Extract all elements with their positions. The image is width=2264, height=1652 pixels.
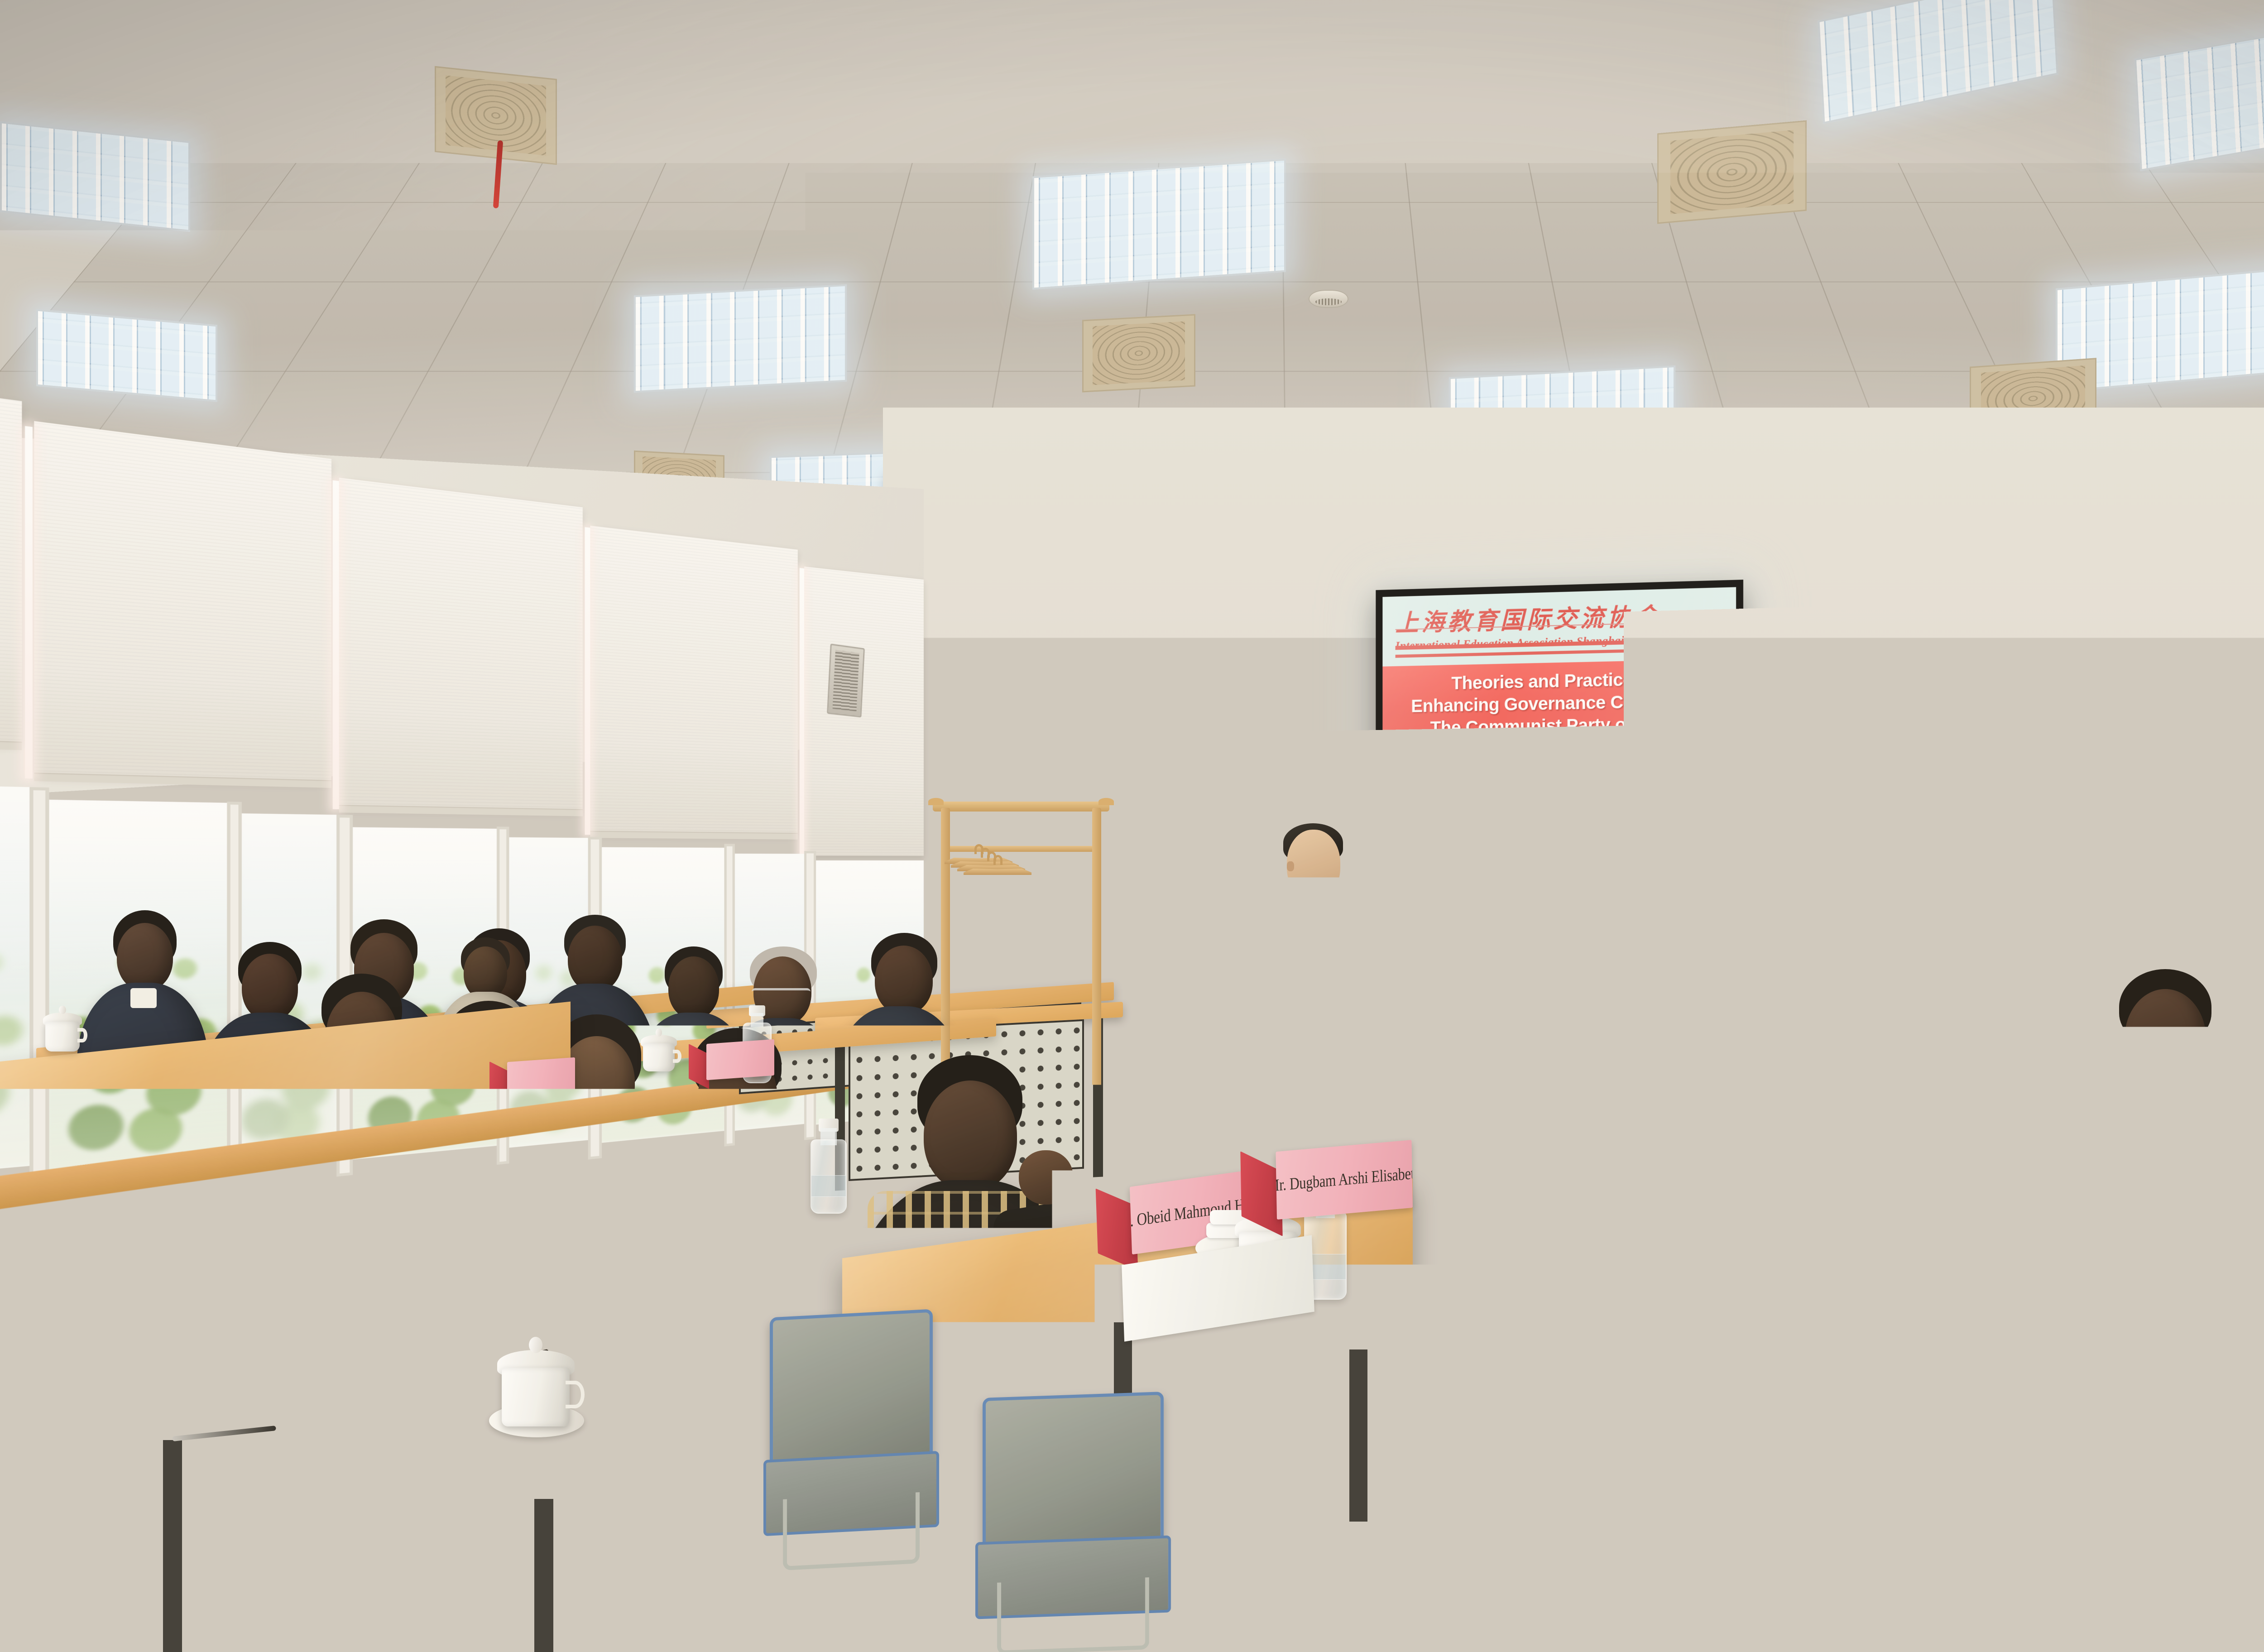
water-bottle <box>435 1309 482 1431</box>
slide-affiliation-line-1: President <box>1440 818 1676 840</box>
laptop-screen <box>1988 1265 2075 1416</box>
hvac-diffuser <box>435 66 557 165</box>
head <box>568 926 622 992</box>
slide-body: Dr. Jiang Haishan President Internationa… <box>1382 743 1736 900</box>
rolled-towel <box>2156 1194 2222 1208</box>
hvac-diffuser <box>1082 314 1195 392</box>
roller-blind <box>339 478 583 811</box>
towel-plate <box>2146 1205 2232 1235</box>
stacking-chair[interactable] <box>770 1309 933 1571</box>
presenter-hand-right <box>1322 999 1359 1032</box>
ceiling-light-troffer <box>1032 158 1286 289</box>
fire-sprinkler-icon <box>584 448 596 467</box>
eyeglasses-icon <box>752 988 811 1000</box>
podium-microphone <box>1442 924 1470 1037</box>
coat-rack-top-bar <box>933 802 1109 812</box>
tea-mug <box>1905 1336 1969 1413</box>
placard-text: Mr. Dugbam Arshi Elisabeth <box>1276 1163 1413 1196</box>
shirt-collar <box>130 988 157 1008</box>
placard-text <box>540 1072 542 1083</box>
presenter-head <box>1287 830 1340 898</box>
blind-light-gap <box>333 480 339 809</box>
rolled-towel <box>2160 1181 2223 1195</box>
name-placard: Mr. Dugbam Arshi Elisabeth <box>1276 1140 1413 1220</box>
ceiling-light-troffer <box>0 121 190 232</box>
tea-mug <box>643 1032 675 1071</box>
presentation-slide: 上海教育国际交流协会 International Education Assoc… <box>1382 587 1736 900</box>
tea-mug <box>45 1010 80 1052</box>
tea-mug <box>96 1196 144 1254</box>
hand <box>1019 1150 1073 1205</box>
water-bottle <box>811 1119 847 1214</box>
tea-mug <box>121 1268 181 1340</box>
ceiling-light-troffer <box>2134 14 2264 171</box>
blind-light-gap <box>25 426 33 779</box>
table-leg <box>163 1440 182 1652</box>
floor <box>951 1304 1721 1531</box>
conference-room-photo: 上海教育国际交流协会 International Education Assoc… <box>0 0 2264 1652</box>
head <box>924 1081 1017 1191</box>
head <box>2125 989 2206 1089</box>
clothes-hanger-icon <box>964 860 1031 888</box>
water-glass <box>1212 996 1232 1022</box>
blind-light-gap <box>800 568 804 856</box>
roller-blind <box>0 342 22 744</box>
whiteboard-marker <box>1827 976 1852 984</box>
smoke-detector-icon <box>1309 290 1348 308</box>
name-placard <box>706 1039 774 1080</box>
roller-blind <box>804 567 924 856</box>
presenter-nose <box>1287 861 1294 871</box>
whiteboard-corner-clip <box>2020 974 2039 984</box>
name-placard <box>507 1057 575 1097</box>
head <box>117 923 173 991</box>
microphone-handle <box>1262 1035 1279 1099</box>
hvac-diffuser <box>1657 120 1807 224</box>
ceiling-light-troffer <box>634 284 847 393</box>
wall-speaker-icon <box>827 644 865 717</box>
organization-logo-chinese: 上海教育国际交流协会 <box>1396 595 1726 639</box>
hand <box>1588 1078 1641 1130</box>
slide-footer-rule <box>1417 886 1700 888</box>
slide-affiliation-line-3: April/2017 <box>1440 859 1676 881</box>
roller-blind <box>34 421 331 783</box>
slide-author: Dr. Jiang Haishan <box>1492 765 1622 787</box>
slide-header: 上海教育国际交流协会 International Education Assoc… <box>1382 587 1736 667</box>
head <box>1767 1017 1850 1118</box>
tea-mug <box>502 1345 570 1426</box>
whiteboard-marker <box>1876 976 1902 984</box>
ceiling-light-troffer <box>1818 0 2058 124</box>
microphone-capsule <box>1251 1000 1278 1040</box>
head <box>668 956 719 1019</box>
tea-mug <box>652 1223 702 1282</box>
water-bottle <box>2228 1150 2264 1254</box>
fire-sprinkler-icon <box>2092 109 2104 128</box>
placard-text <box>739 1055 741 1065</box>
whiteboard-clip <box>1976 767 1985 844</box>
head <box>464 946 507 999</box>
tea-mug <box>0 1263 50 1329</box>
placard-text: Mr. Legese Negash Woro <box>1751 1387 1897 1428</box>
projection-screen: 上海教育国际交流协会 International Education Assoc… <box>1376 580 1743 907</box>
ceiling-light-troffer <box>36 309 217 402</box>
slide-title-band: Theories and Practices of Enhancing Gove… <box>1382 659 1736 749</box>
fire-sprinkler-icon <box>1005 353 1017 372</box>
roller-blind <box>590 526 797 835</box>
table-leg <box>534 1499 553 1652</box>
head <box>875 946 933 1014</box>
blind-light-gap <box>585 527 590 835</box>
slide-affiliation-line-2: International Education Association Shan… <box>1440 838 1676 860</box>
slide-affiliation: President International Education Associ… <box>1440 818 1676 881</box>
